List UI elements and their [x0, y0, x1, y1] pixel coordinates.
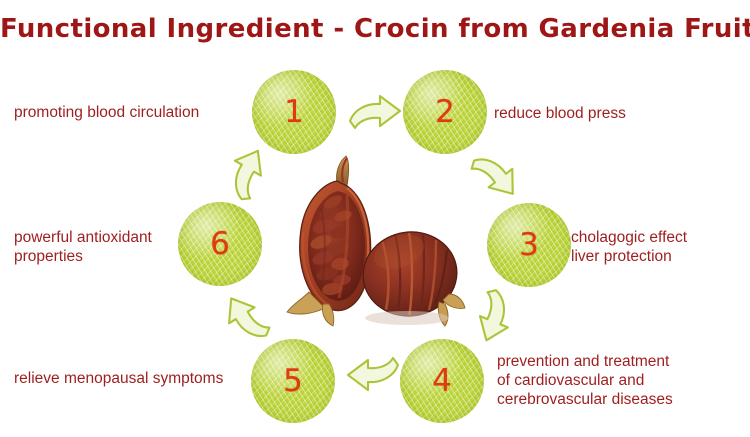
- node-circle-1[interactable]: 1: [252, 70, 336, 154]
- gardenia-fruit-image: [277, 152, 467, 334]
- node-number-5: 5: [251, 339, 335, 423]
- whole-fruit: [358, 226, 465, 326]
- infographic-canvas: Functional Ingredient - Crocin from Gard…: [0, 0, 750, 437]
- arrow-4-to-5-icon: [344, 348, 402, 396]
- page-title: Functional Ingredient - Crocin from Gard…: [0, 14, 750, 44]
- node-circle-5[interactable]: 5: [251, 339, 335, 423]
- node-label-3: cholagogic effect liver protection: [571, 228, 687, 266]
- node-circle-4[interactable]: 4: [400, 339, 484, 423]
- node-label-6: powerful antioxidant properties: [14, 228, 152, 266]
- node-number-2: 2: [403, 70, 487, 154]
- node-label-5: relieve menopausal symptoms: [14, 369, 223, 388]
- node-label-4: prevention and treatment of cardiovascul…: [497, 352, 673, 409]
- node-number-3: 3: [487, 203, 571, 287]
- arrow-1-to-2-icon: [346, 90, 404, 138]
- sliced-fruit: [287, 156, 370, 326]
- node-number-6: 6: [178, 202, 262, 286]
- node-circle-6[interactable]: 6: [178, 202, 262, 286]
- node-number-1: 1: [252, 70, 336, 154]
- node-circle-2[interactable]: 2: [403, 70, 487, 154]
- node-label-1: promoting blood circulation: [14, 103, 199, 122]
- node-circle-3[interactable]: 3: [487, 203, 571, 287]
- node-label-2: reduce blood press: [494, 104, 626, 123]
- node-number-4: 4: [400, 339, 484, 423]
